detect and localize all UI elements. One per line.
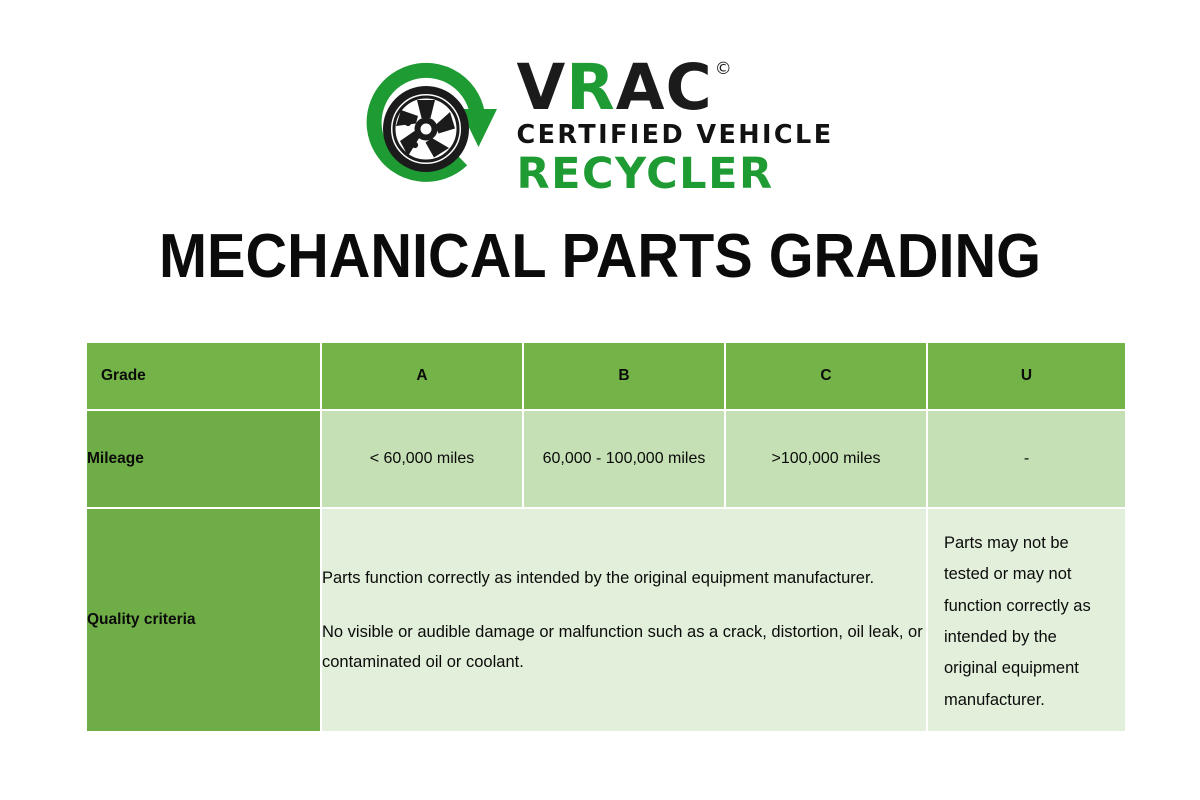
logo-wordmark: VRAC© CERTIFIED VEHICLE RECYCLER bbox=[516, 58, 833, 195]
logo-letter-r: R bbox=[566, 58, 616, 118]
row-label-mileage: Mileage bbox=[87, 411, 320, 507]
logo-vrac-word: VRAC© bbox=[516, 58, 732, 118]
table-header-row: Grade A B C U bbox=[87, 343, 1125, 409]
quality-u-paragraph-1: Parts may not be tested or may not funct… bbox=[944, 528, 1113, 716]
logo-inner: VRAC© CERTIFIED VEHICLE RECYCLER bbox=[366, 57, 833, 197]
header-cell-c: C bbox=[726, 343, 926, 409]
vrac-logo: VRAC© CERTIFIED VEHICLE RECYCLER bbox=[0, 52, 1200, 202]
logo-tagline: CERTIFIED VEHICLE bbox=[516, 123, 833, 149]
header-cell-a: A bbox=[322, 343, 522, 409]
quality-abc-paragraph-2: No visible or audible damage or malfunct… bbox=[322, 617, 926, 677]
row-label-quality-criteria: Quality criteria bbox=[87, 509, 320, 731]
vrac-recycling-wheel-logo-icon bbox=[366, 57, 502, 197]
quality-cell-u: Parts may not be tested or may not funct… bbox=[928, 509, 1125, 731]
header-cell-grade: Grade bbox=[87, 343, 320, 409]
header-cell-u: U bbox=[928, 343, 1125, 409]
logo-letter-v: V bbox=[516, 58, 566, 118]
copyright-icon: © bbox=[715, 61, 733, 78]
logo-letters-ac: AC bbox=[616, 58, 713, 118]
mileage-cell-c: >100,000 miles bbox=[726, 411, 926, 507]
mileage-cell-b: 60,000 - 100,000 miles bbox=[524, 411, 724, 507]
table-row-mileage: Mileage < 60,000 miles 60,000 - 100,000 … bbox=[87, 411, 1125, 507]
logo-recycler-word: RECYCLER bbox=[516, 153, 773, 196]
mileage-cell-a: < 60,000 miles bbox=[322, 411, 522, 507]
quality-cell-abc: Parts function correctly as intended by … bbox=[322, 509, 926, 731]
quality-abc-paragraph-1: Parts function correctly as intended by … bbox=[322, 563, 926, 593]
table-row-quality-criteria: Quality criteria Parts function correctl… bbox=[87, 509, 1125, 731]
header-cell-b: B bbox=[524, 343, 724, 409]
mechanical-parts-grading-table: Grade A B C U Mileage < 60,000 miles 60,… bbox=[85, 341, 1127, 733]
mileage-cell-u: - bbox=[928, 411, 1125, 507]
grading-infographic-page: VRAC© CERTIFIED VEHICLE RECYCLER MECHANI… bbox=[0, 0, 1200, 800]
page-title: MECHANICAL PARTS GRADING bbox=[42, 221, 1158, 292]
